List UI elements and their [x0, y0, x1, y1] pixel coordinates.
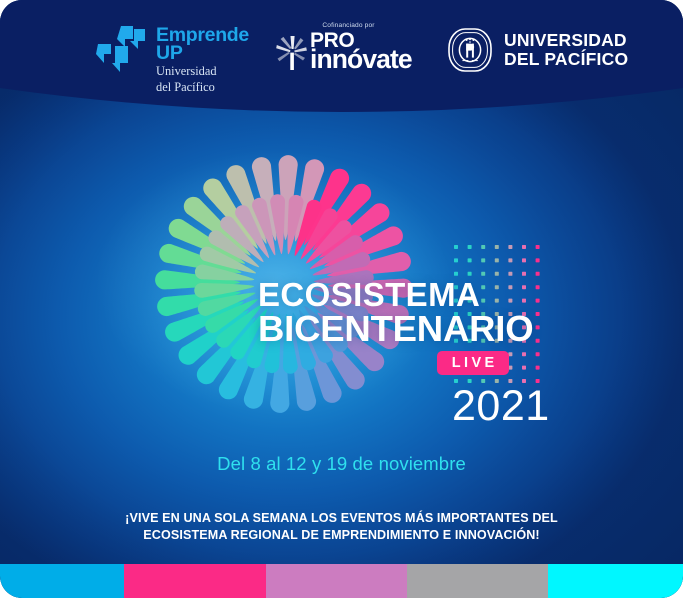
logo-universidad-del-pacifico: UNIVERSIDAD DEL PACÍFICO [447, 27, 628, 73]
grid-dot [481, 245, 485, 249]
page-title-line-1: ECOSISTEMA [258, 278, 533, 312]
segment-gray [407, 564, 548, 598]
grid-dot [536, 299, 540, 303]
logo-proinnovate: Cofinanciado por PRO [276, 22, 421, 72]
status-badge-live: LIVE [437, 351, 509, 375]
emprende-subline-1: Universidad [156, 65, 249, 79]
event-poster: ECOSISTEMA BICENTENARIO LIVE 2021 Del 8 … [0, 0, 683, 598]
event-tagline: ¡VIVE EN UNA SOLA SEMANA LOS EVENTOS MÁS… [0, 510, 683, 544]
event-year: 2021 [452, 385, 550, 428]
grid-dot [536, 272, 540, 276]
grid-dot [454, 258, 458, 262]
emprende-up-wordmark: Emprende UP Universidad del Pacífico [156, 24, 249, 94]
grid-dot [468, 258, 472, 262]
hero-title-block: ECOSISTEMA BICENTENARIO LIVE [258, 278, 533, 375]
header-logo-row: Emprende UP Universidad del Pacífico Cof… [0, 0, 683, 100]
logo-emprende-up: Emprende UP Universidad del Pacífico [95, 24, 249, 94]
up-crest-seal-icon [447, 27, 493, 73]
grid-dot [522, 258, 526, 262]
proinnovate-wordmark: PRO innóvate [276, 32, 421, 72]
tagline-line-1: ¡VIVE EN UNA SOLA SEMANA LOS EVENTOS MÁS… [0, 510, 683, 527]
page-title-line-2: BICENTENARIO [258, 310, 533, 348]
live-badge-label: LIVE [448, 355, 497, 371]
grid-dot [468, 245, 472, 249]
cofinanced-label: Cofinanciado por [276, 22, 421, 29]
grid-dot [536, 325, 540, 329]
emprende-subline-2: del Pacífico [156, 81, 249, 95]
grid-dot [508, 258, 512, 262]
innovate-word: innóvate [310, 48, 412, 71]
grid-dot [536, 245, 540, 249]
grid-dot [536, 258, 540, 262]
grid-dot [481, 272, 485, 276]
grid-dot [536, 352, 540, 356]
segment-cyan [548, 564, 683, 598]
event-dates: Del 8 al 12 y 19 de noviembre [0, 453, 683, 475]
up-line-1: UNIVERSIDAD [504, 32, 628, 50]
grid-dot [481, 258, 485, 262]
tagline-line-2: ECOSISTEMA REGIONAL DE EMPRENDIMIENTO E … [0, 527, 683, 544]
grid-dot [508, 272, 512, 276]
emprende-arrows-icon [95, 24, 147, 76]
grid-dot [536, 312, 540, 316]
bottom-color-bar [0, 564, 683, 598]
grid-dot [495, 245, 499, 249]
grid-dot [536, 366, 540, 370]
grid-dot [495, 272, 499, 276]
grid-dot [495, 258, 499, 262]
grid-dot [454, 245, 458, 249]
proinnovate-burst-icon [276, 36, 307, 70]
grid-dot [508, 245, 512, 249]
segment-magenta [124, 564, 266, 598]
grid-dot [522, 245, 526, 249]
grid-dot [522, 272, 526, 276]
segment-light-blue [0, 564, 124, 598]
grid-dot [536, 339, 540, 343]
emprende-up-abbrev: UP [156, 44, 249, 63]
up-line-2: DEL PACÍFICO [504, 51, 628, 69]
segment-orchid [266, 564, 407, 598]
up-wordmark: UNIVERSIDAD DEL PACÍFICO [504, 32, 628, 69]
proinnovate-words: PRO innóvate [310, 32, 412, 72]
grid-dot [536, 285, 540, 289]
